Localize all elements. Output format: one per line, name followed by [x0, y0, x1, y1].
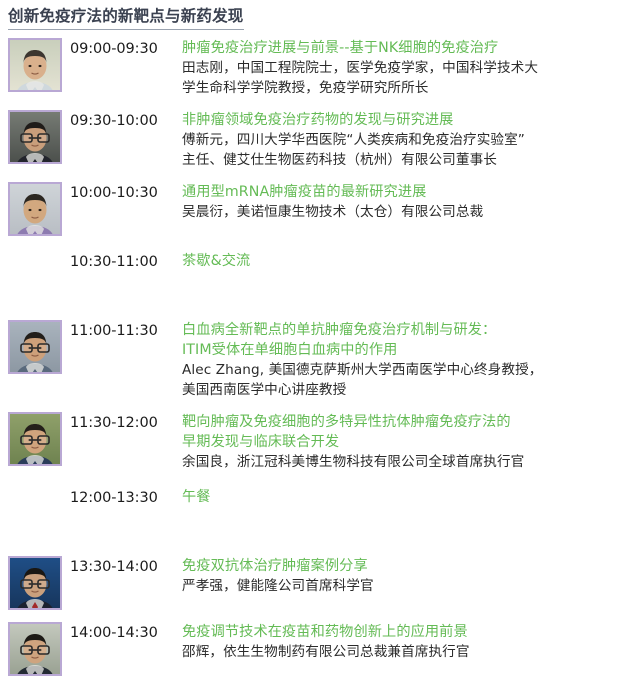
session-content: 午餐: [182, 487, 622, 507]
session-title-line: 靶向肿瘤及免疫细胞的多特异性抗体肿瘤免疫疗法的: [182, 412, 618, 432]
session-title[interactable]: 午餐: [182, 487, 618, 507]
speaker-bio-line: 学生命科学学院教授，免疫学研究所所长: [182, 78, 618, 98]
session-time: 11:00-11:30: [70, 320, 182, 341]
section-heading-wrap: 创新免疫疗法的新靶点与新药发现: [0, 0, 628, 32]
speaker-photo-cell: [8, 412, 70, 466]
speaker-bio-line: 邵辉，依生生物制药有限公司总裁兼首席执行官: [182, 642, 618, 662]
session-title-line: 茶歇&交流: [182, 251, 618, 271]
session-title[interactable]: 免疫双抗体治疗肿瘤案例分享: [182, 556, 618, 576]
session-content: 通用型mRNA肿瘤疫苗的最新研究进展吴晨衍，美诺恒康生物技术（太仓）有限公司总裁: [182, 182, 622, 222]
speaker-photo-cell: [8, 487, 70, 541]
speaker-bio-line: 严孝强，健能隆公司首席科学官: [182, 576, 618, 596]
speaker-photo-cell: [8, 38, 70, 92]
speaker-photo-cell: [8, 622, 70, 676]
speaker-photo-fu-xinyuan[interactable]: [8, 110, 62, 164]
session-time: 09:30-10:00: [70, 110, 182, 131]
agenda-row[interactable]: 10:00-10:30通用型mRNA肿瘤疫苗的最新研究进展吴晨衍，美诺恒康生物技…: [0, 176, 628, 242]
session-content: 非肿瘤领域免疫治疗药物的发现与研究进展傅新元，四川大学华西医院“人类疾病和免疫治…: [182, 110, 622, 170]
agenda-row[interactable]: 09:30-10:00非肿瘤领域免疫治疗药物的发现与研究进展傅新元，四川大学华西…: [0, 104, 628, 176]
speaker-bio-line: 余国良，浙江冠科美博生物科技有限公司全球首席执行官: [182, 452, 618, 472]
agenda-row[interactable]: 09:00-09:30肿瘤免疫治疗进展与前景--基于NK细胞的免疫治疗田志刚，中…: [0, 32, 628, 104]
page-title: 创新免疫疗法的新靶点与新药发现: [0, 0, 244, 29]
agenda-row[interactable]: 11:00-11:30白血病全新靶点的单抗肿瘤免疫治疗机制与研发：ITIM受体在…: [0, 314, 628, 406]
speaker-photo-cell: [8, 110, 70, 164]
no-photo-placeholder: [8, 251, 62, 305]
speaker-bio: 傅新元，四川大学华西医院“人类疾病和免疫治疗实验室”主任、健艾仕生物医药科技（杭…: [182, 130, 618, 170]
speaker-photo-tian-zhigang[interactable]: [8, 38, 62, 92]
speaker-photo-yan-xiaoqiang[interactable]: [8, 556, 62, 610]
heading-underline: [8, 29, 244, 30]
session-content: 免疫调节技术在疫苗和药物创新上的应用前景邵辉，依生生物制药有限公司总裁兼首席执行…: [182, 622, 622, 662]
session-title-line: 非肿瘤领域免疫治疗药物的发现与研究进展: [182, 110, 618, 130]
session-title-line: 早期发现与临床联合开发: [182, 432, 618, 452]
agenda-row[interactable]: 13:30-14:00免疫双抗体治疗肿瘤案例分享严孝强，健能隆公司首席科学官: [0, 550, 628, 616]
session-time: 14:00-14:30: [70, 622, 182, 643]
session-title-line: ITIM受体在单细胞白血病中的作用: [182, 340, 618, 360]
session-title[interactable]: 通用型mRNA肿瘤疫苗的最新研究进展: [182, 182, 618, 202]
session-time: 11:30-12:00: [70, 412, 182, 433]
speaker-photo-shao-hui[interactable]: [8, 622, 62, 676]
session-title[interactable]: 茶歇&交流: [182, 251, 618, 271]
session-time: 10:00-10:30: [70, 182, 182, 203]
agenda-row[interactable]: 11:30-12:00靶向肿瘤及免疫细胞的多特异性抗体肿瘤免疫疗法的早期发现与临…: [0, 406, 628, 478]
agenda-page: 创新免疫疗法的新靶点与新药发现 09:00-09:30肿瘤免疫治疗进展与前景--…: [0, 0, 628, 622]
session-content: 免疫双抗体治疗肿瘤案例分享严孝强，健能隆公司首席科学官: [182, 556, 622, 596]
session-title-line: 白血病全新靶点的单抗肿瘤免疫治疗机制与研发：: [182, 320, 618, 340]
session-title-line: 免疫双抗体治疗肿瘤案例分享: [182, 556, 618, 576]
speaker-bio-line: 田志刚，中国工程院院士，医学免疫学家，中国科学技术大: [182, 58, 618, 78]
session-title[interactable]: 白血病全新靶点的单抗肿瘤免疫治疗机制与研发：ITIM受体在单细胞白血病中的作用: [182, 320, 618, 360]
speaker-photo-cell: [8, 182, 70, 236]
speaker-bio-line: 主任、健艾仕生物医药科技（杭州）有限公司董事长: [182, 150, 618, 170]
session-title[interactable]: 非肿瘤领域免疫治疗药物的发现与研究进展: [182, 110, 618, 130]
session-time: 10:30-11:00: [70, 251, 182, 272]
session-time: 09:00-09:30: [70, 38, 182, 59]
session-title[interactable]: 肿瘤免疫治疗进展与前景--基于NK细胞的免疫治疗: [182, 38, 618, 58]
no-photo-placeholder: [8, 487, 62, 541]
session-title[interactable]: 靶向肿瘤及免疫细胞的多特异性抗体肿瘤免疫疗法的早期发现与临床联合开发: [182, 412, 618, 452]
agenda-row[interactable]: 14:00-14:30免疫调节技术在疫苗和药物创新上的应用前景邵辉，依生生物制药…: [0, 616, 628, 682]
session-content: 茶歇&交流: [182, 251, 622, 271]
session-time: 12:00-13:30: [70, 487, 182, 508]
speaker-bio: 邵辉，依生生物制药有限公司总裁兼首席执行官: [182, 642, 618, 662]
speaker-bio: 余国良，浙江冠科美博生物科技有限公司全球首席执行官: [182, 452, 618, 472]
speaker-photo-cell: [8, 320, 70, 374]
speaker-bio: 吴晨衍，美诺恒康生物技术（太仓）有限公司总裁: [182, 202, 618, 222]
agenda-row[interactable]: 10:30-11:00茶歇&交流: [0, 242, 628, 314]
session-title-line: 免疫调节技术在疫苗和药物创新上的应用前景: [182, 622, 618, 642]
agenda-list: 09:00-09:30肿瘤免疫治疗进展与前景--基于NK细胞的免疫治疗田志刚，中…: [0, 32, 628, 682]
speaker-bio: 严孝强，健能隆公司首席科学官: [182, 576, 618, 596]
speaker-photo-alec-zhang[interactable]: [8, 320, 62, 374]
speaker-bio-line: 吴晨衍，美诺恒康生物技术（太仓）有限公司总裁: [182, 202, 618, 222]
speaker-photo-yu-guoliang[interactable]: [8, 412, 62, 466]
agenda-row[interactable]: 12:00-13:30午餐: [0, 478, 628, 550]
session-content: 靶向肿瘤及免疫细胞的多特异性抗体肿瘤免疫疗法的早期发现与临床联合开发余国良，浙江…: [182, 412, 622, 472]
session-title-line: 通用型mRNA肿瘤疫苗的最新研究进展: [182, 182, 618, 202]
session-time: 13:30-14:00: [70, 556, 182, 577]
speaker-bio-line: 傅新元，四川大学华西医院“人类疾病和免疫治疗实验室”: [182, 130, 618, 150]
speaker-photo-cell: [8, 251, 70, 305]
speaker-bio-line: 美国西南医学中心讲座教授: [182, 380, 618, 400]
speaker-bio: Alec Zhang, 美国德克萨斯州大学西南医学中心终身教授，美国西南医学中心…: [182, 360, 618, 400]
speaker-photo-wu-chenyan[interactable]: [8, 182, 62, 236]
session-title-line: 午餐: [182, 487, 618, 507]
session-content: 白血病全新靶点的单抗肿瘤免疫治疗机制与研发：ITIM受体在单细胞白血病中的作用A…: [182, 320, 622, 400]
session-title[interactable]: 免疫调节技术在疫苗和药物创新上的应用前景: [182, 622, 618, 642]
session-content: 肿瘤免疫治疗进展与前景--基于NK细胞的免疫治疗田志刚，中国工程院院士，医学免疫…: [182, 38, 622, 98]
session-title-line: 肿瘤免疫治疗进展与前景--基于NK细胞的免疫治疗: [182, 38, 618, 58]
speaker-photo-cell: [8, 556, 70, 610]
speaker-bio: 田志刚，中国工程院院士，医学免疫学家，中国科学技术大学生命科学学院教授，免疫学研…: [182, 58, 618, 98]
speaker-bio-line: Alec Zhang, 美国德克萨斯州大学西南医学中心终身教授，: [182, 360, 618, 380]
